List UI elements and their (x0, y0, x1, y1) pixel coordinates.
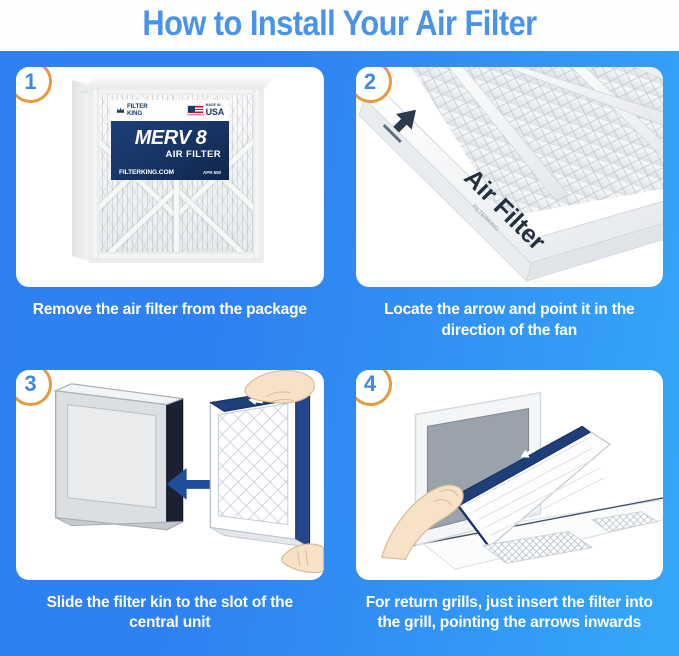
step-4-caption: For return grills, just insert the filte… (356, 593, 664, 634)
infographic-root: How to Install Your Air Filter 1 (0, 0, 679, 656)
step-4-illustration (356, 370, 664, 580)
made-in-usa-text: MADE IN USA (206, 104, 224, 116)
step-3-card: 3 (16, 370, 324, 580)
crown-icon (116, 106, 125, 115)
step-4: 4 (340, 354, 679, 656)
product-label-header: FILTER KING MADE IN USA (111, 100, 229, 121)
air-filter-panel (210, 388, 309, 547)
usa-flag-icon (187, 105, 204, 116)
filter-frame-edge (91, 88, 261, 95)
step-2-caption: Locate the arrow and point it in the dir… (356, 300, 664, 341)
website-text: FILTERKING.COM (119, 169, 174, 176)
step-1: 1 (0, 51, 340, 354)
filter-frame-edge (91, 88, 99, 260)
country-label: USA (206, 108, 224, 117)
page-title: How to Install Your Air Filter (41, 0, 639, 49)
step-1-card: 1 (16, 67, 324, 287)
filter-front-face: FILTER KING MADE IN USA (88, 85, 264, 263)
filter-pleat-field (398, 67, 663, 217)
hand-lower (282, 544, 324, 572)
step-1-illustration: FILTER KING MADE IN USA (16, 67, 324, 287)
filter-king-wordmark: FILTER KING (127, 104, 148, 117)
central-unit (56, 383, 183, 529)
product-type-text: AIR FILTER (120, 149, 221, 160)
product-label-body: MERV 8 AIR FILTER FILTERKING.COM APR 650 (111, 121, 229, 180)
product-label: FILTER KING MADE IN USA (111, 100, 229, 180)
step-3: 3 (0, 354, 340, 656)
product-label-footer: FILTERKING.COM APR 650 (111, 169, 229, 176)
step-4-card: 4 (356, 370, 664, 580)
step-3-caption: Slide the filter kin to the slot of the … (16, 593, 324, 634)
filter-frame-edge (253, 88, 261, 260)
header-band: How to Install Your Air Filter (0, 0, 679, 51)
steps-grid: 1 (0, 51, 679, 656)
apr-rating-text: APR 650 (203, 170, 221, 175)
step-2-illustration: Air Filter FILTERKING (356, 67, 664, 287)
hand-upper (245, 370, 314, 403)
return-grill-graphic (356, 370, 664, 580)
step-1-caption: Remove the air filter from the package (16, 300, 324, 321)
step-2-card: 2 (356, 67, 664, 287)
merv-rating-text: MERV 8 (120, 128, 221, 148)
step-3-illustration (16, 370, 324, 580)
filter-frame-edge (91, 252, 261, 260)
step-2: 2 (340, 51, 679, 354)
filter-corner-graphic: Air Filter FILTERKING (356, 67, 664, 287)
slide-filter-graphic (16, 370, 324, 580)
brand-line-2: KING (127, 111, 148, 117)
made-in-usa-block: MADE IN USA (187, 104, 224, 116)
filter-king-logo: FILTER KING (116, 104, 148, 117)
